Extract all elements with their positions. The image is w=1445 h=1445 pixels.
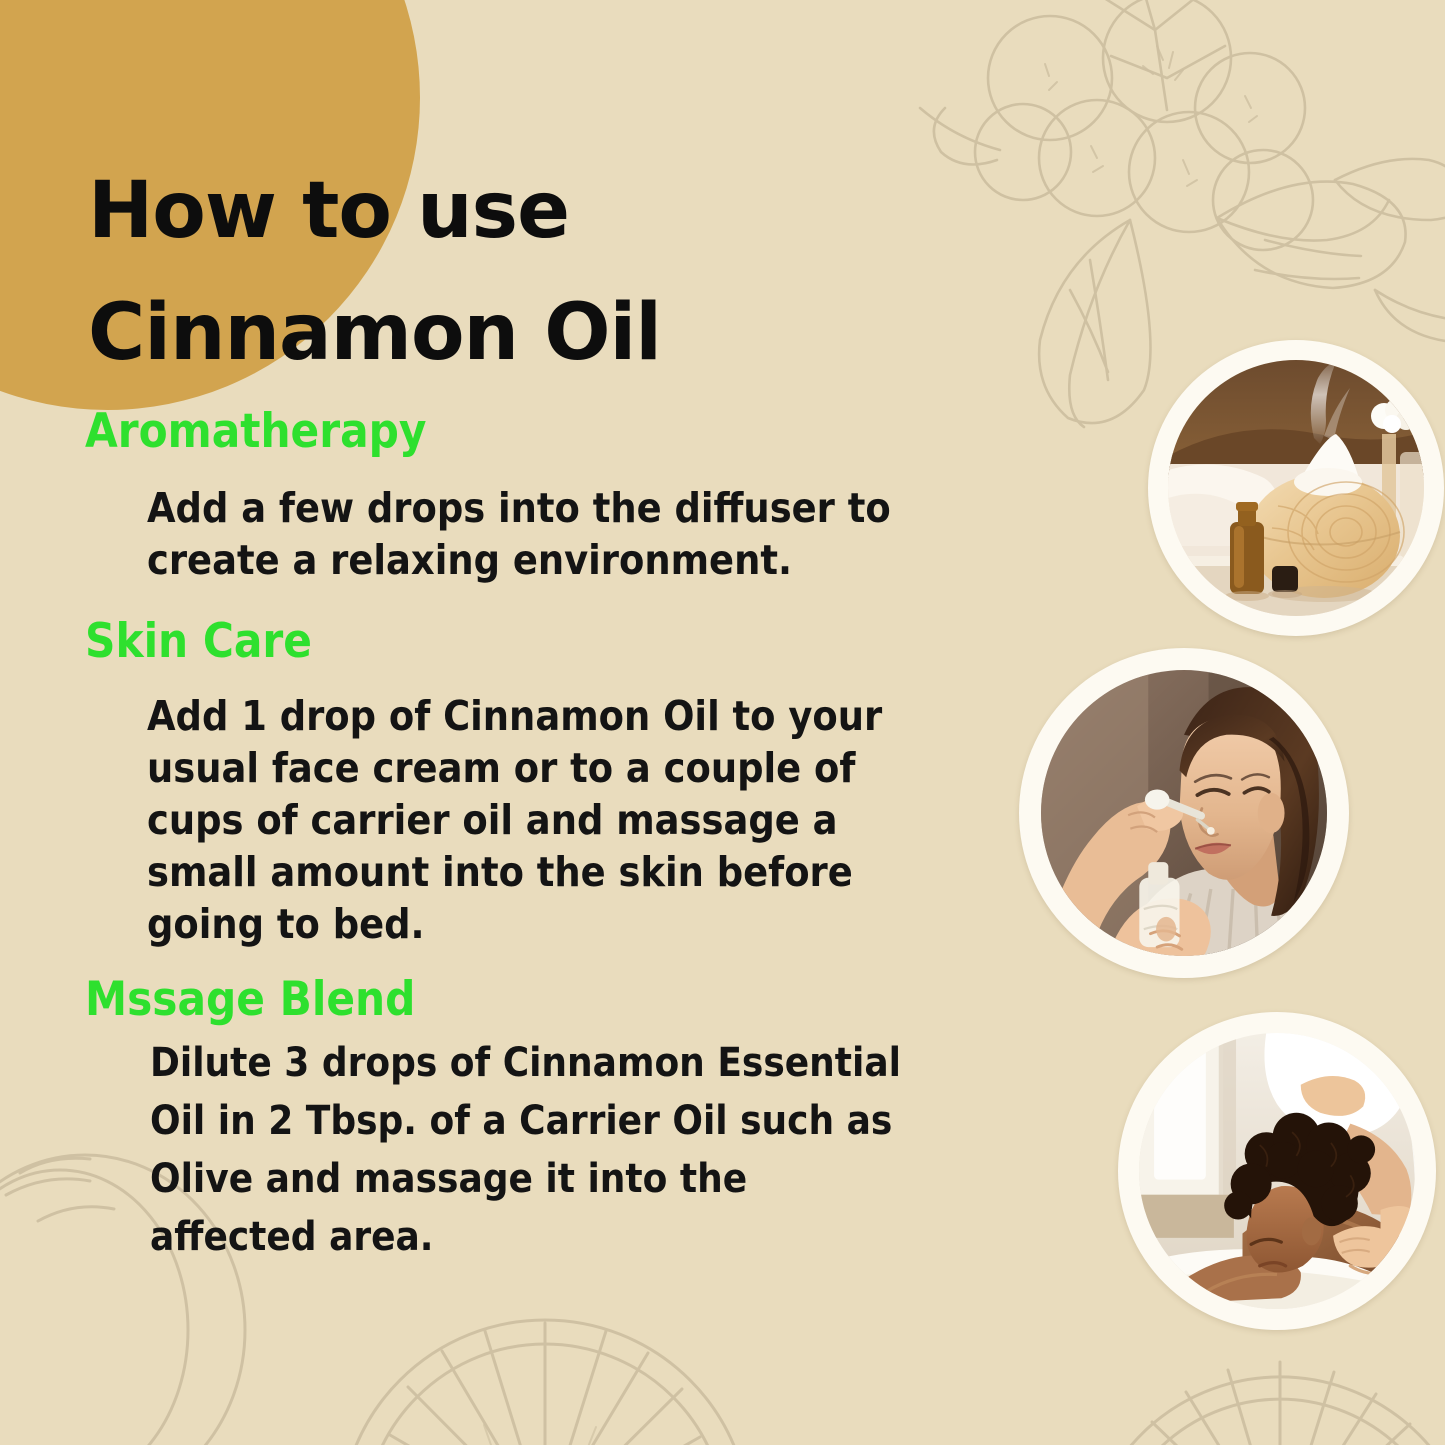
infographic-poster: How to use Cinnamon Oil Aromatherapy Add… [0,0,1445,1445]
section-heading-massage-blend: Mssage Blend [85,972,925,1028]
section-heading-skin-care: Skin Care [85,614,925,670]
woman-applying-serum-photo [1041,670,1327,956]
section-massage-blend: Mssage Blend Dilute 3 drops of Cinnamon … [85,972,925,1266]
section-aromatherapy: Aromatherapy Add a few drops into the di… [85,404,925,614]
title-line-1: How to use [88,150,908,272]
section-body-skin-care: Add 1 drop of Cinnamon Oil to your usual… [85,670,925,950]
photo-circle-aromatherapy [1148,340,1444,636]
usage-sections: Aromatherapy Add a few drops into the di… [85,404,925,1266]
page-title: How to use Cinnamon Oil [88,150,908,394]
section-body-massage-blend: Dilute 3 drops of Cinnamon Essential Oil… [85,1028,925,1266]
citrus-slice-watermark-icon [330,1235,760,1445]
photo-circle-skin-care [1019,648,1349,978]
back-massage-photo [1139,1033,1415,1309]
section-body-aromatherapy: Add a few drops into the diffuser to cre… [85,460,925,586]
title-line-2: Cinnamon Oil [88,272,908,394]
aromatherapy-diffuser-photo [1168,360,1424,616]
section-heading-aromatherapy: Aromatherapy [85,404,925,460]
section-skin-care: Skin Care Add 1 drop of Cinnamon Oil to … [85,614,925,972]
photo-circle-massage [1118,1012,1436,1330]
